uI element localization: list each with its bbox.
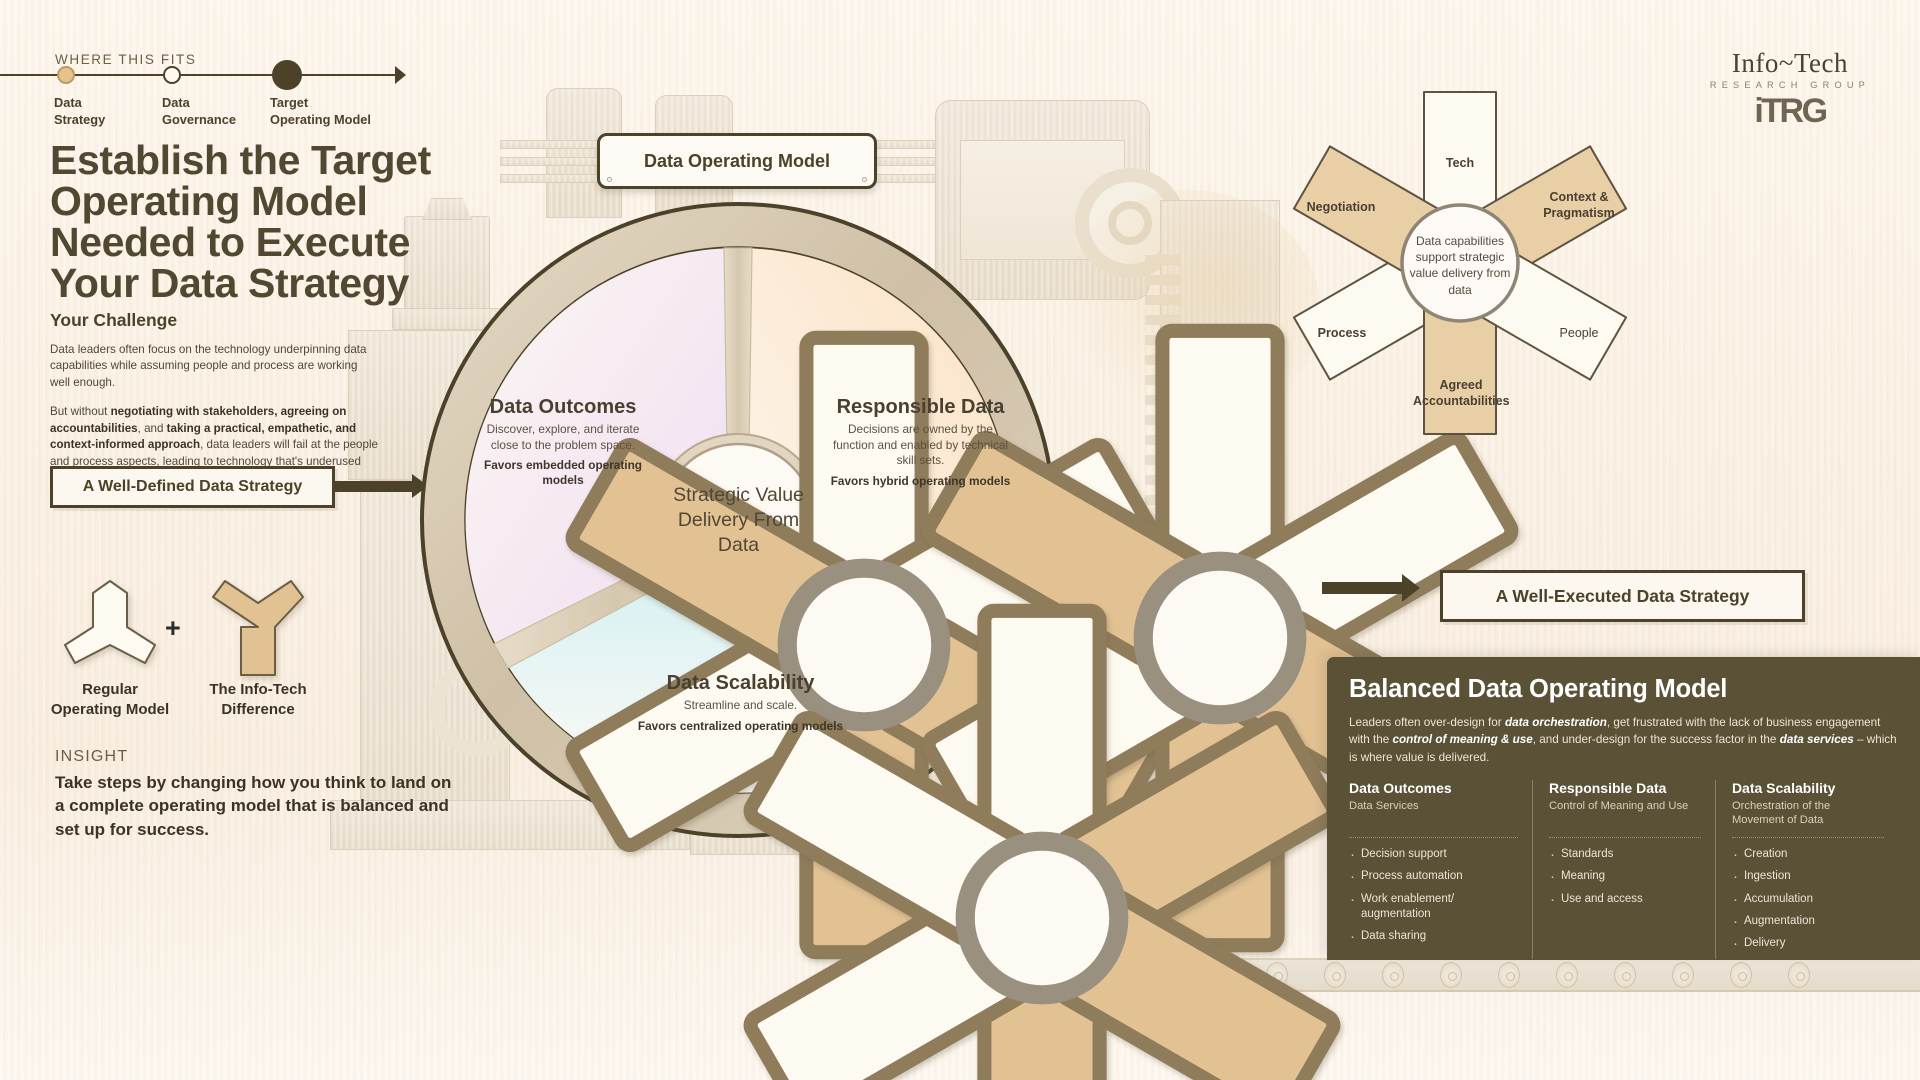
segment-desc: Discover, explore, and iterate close to … [473,422,653,453]
logo-itrg-mark: iTRG [1710,92,1870,131]
timeline-dot-data-strategy[interactable] [57,66,75,84]
gear-small-icon [1108,201,1152,245]
segment-title: Data Outcomes [473,396,653,419]
roller-icon [1556,962,1578,988]
intro-bold-2: control of meaning & use [1393,733,1533,746]
column-divider [1549,837,1701,838]
segment-desc: Decisions are owned by the function and … [828,422,1013,469]
segment-favors: Favors embedded operating models [473,458,653,489]
insight-section: INSIGHT Take steps by changing how you t… [55,748,455,841]
balanced-column-data-outcomes: Data Outcomes Data Services Decision sup… [1349,780,1532,959]
petal-label-process: Process [1297,326,1387,342]
regular-operating-model-caption: Regular Operating Model [45,680,175,719]
regular-operating-model-shape [55,575,165,685]
where-this-fits-timeline: WHERE THIS FITS Data Strategy Data Gover… [0,52,520,142]
roller-icon [1440,962,1462,988]
segment-label-data-outcomes: Data Outcomes Discover, explore, and ite… [473,396,653,489]
petal-label-people: People [1535,326,1623,342]
segment-favors: Favors hybrid operating models [828,474,1013,489]
intro-bold-3: data services [1780,733,1854,746]
logo-tagline: RESEARCH GROUP [1710,80,1870,90]
well-executed-data-strategy-box[interactable]: A Well-Executed Data Strategy [1440,570,1805,622]
timeline-label-line1: Target [270,94,371,111]
column-subheading: Orchestration of the Movement of Data [1732,799,1884,829]
timeline-label-data-governance: Data Governance [162,94,236,129]
roller-icon [1614,962,1636,988]
column-divider [1349,837,1518,838]
roller-icon [1498,962,1520,988]
info-tech-logo: Info~Tech RESEARCH GROUP iTRG [1710,48,1870,131]
data-operating-model-wheel: Strategic Value Delivery From Data [398,200,1078,840]
timeline-label-line1: Data [54,94,105,111]
arrow-out-of-wheel-icon [1322,582,1404,594]
list-item: Decision support [1349,847,1518,862]
petal-label-negotiation: Negotiation [1293,200,1389,216]
operating-model-comparison: + Regular Operating Model The Info-Tech … [55,575,315,775]
segment-favors: Favors centralized operating models [578,719,903,734]
p2-mid: , and [138,422,167,435]
timeline-label-line2: Operating Model [270,111,371,128]
petal-label-agreed-accountabilities: Agreed Accountabilities [1413,378,1509,409]
roller-icon [1672,962,1694,988]
plaque-label: Data Operating Model [644,151,830,172]
balanced-column-data-scalability: Data Scalability Orchestration of the Mo… [1715,780,1898,959]
timeline-label-line1: Data [162,94,236,111]
petal-hub-label: Data capabilities support strategic valu… [1403,233,1517,298]
list-item: Delivery [1732,936,1884,951]
plus-sign: + [165,613,181,644]
data-operating-model-plaque[interactable]: Data Operating Model [597,133,877,189]
column-list: Decision support Process automation Work… [1349,847,1518,944]
list-item: Data sharing [1349,929,1518,944]
list-item: Use and access [1549,892,1701,907]
timeline-arrow-icon [395,66,406,84]
list-item: Meaning [1549,869,1701,884]
list-item: Augmentation [1732,914,1884,929]
timeline-dot-target-operating-model[interactable] [272,60,302,90]
screw-icon [607,177,612,182]
list-item: Work enablement/ augmentation [1349,892,1518,922]
list-item: Ingestion [1732,869,1884,884]
segment-label-responsible-data: Responsible Data Decisions are owned by … [828,396,1013,489]
segment-label-data-scalability: Data Scalability Streamline and scale. F… [578,672,903,734]
column-heading: Data Outcomes [1349,780,1518,797]
roller-icon [1788,962,1810,988]
pinwheel-icon-data-scalability [702,598,1382,1080]
timeline-label-line2: Strategy [54,111,105,128]
roller-icon [1382,962,1404,988]
list-item: Process automation [1349,869,1518,884]
balanced-panel-title: Balanced Data Operating Model [1349,675,1898,704]
column-divider [1732,837,1884,838]
segment-desc: Streamline and scale. [578,698,903,714]
list-item: Standards [1549,847,1701,862]
list-item: Accumulation [1732,892,1884,907]
timeline-label-data-strategy: Data Strategy [54,94,105,129]
p2-pre: But without [50,405,111,418]
timeline-label-line2: Governance [162,111,236,128]
challenge-heading: Your Challenge [50,310,380,331]
petal-label-context-pragmatism: Context & Pragmatism [1533,190,1625,221]
segment-title: Data Scalability [578,672,903,695]
intro-bold-1: data orchestration [1505,716,1607,729]
challenge-paragraph-1: Data leaders often focus on the technolo… [50,342,380,391]
wheel-hub-label: Strategic Value Delivery From Data [656,483,821,557]
info-tech-difference-shape [203,575,313,685]
column-list: Creation Ingestion Accumulation Augmenta… [1732,847,1884,952]
column-subheading: Control of Meaning and Use [1549,799,1701,829]
logo-wordmark: Info~Tech [1710,48,1870,79]
info-tech-difference-caption: The Info-Tech Difference [193,680,323,719]
y-shape-tan-icon [203,575,313,685]
balanced-panel-intro: Leaders often over-design for data orche… [1349,714,1898,766]
timeline-heading: WHERE THIS FITS [55,52,197,67]
column-heading: Responsible Data [1549,780,1701,797]
column-heading: Data Scalability [1732,780,1884,797]
well-defined-data-strategy-box[interactable]: A Well-Defined Data Strategy [50,466,335,508]
insight-body: Take steps by changing how you think to … [55,771,455,841]
y-shape-light-icon [55,575,165,685]
insight-heading: INSIGHT [55,748,455,766]
timeline-label-target-operating-model: Target Operating Model [270,94,371,129]
column-list: Standards Meaning Use and access [1549,847,1701,907]
roller-icon [1730,962,1752,988]
petal-label-tech: Tech [1415,156,1505,172]
balanced-column-responsible-data: Responsible Data Control of Meaning and … [1532,780,1715,959]
intro-seg-3: , and under-design for the success facto… [1533,733,1780,746]
column-subheading: Data Services [1349,799,1518,829]
balanced-columns: Data Outcomes Data Services Decision sup… [1349,780,1898,959]
capabilities-petal-diagram: Tech Context & Pragmatism People Agreed … [1285,78,1635,448]
gear-large-icon [1075,168,1185,278]
segment-title: Responsible Data [828,396,1013,419]
list-item: Creation [1732,847,1884,862]
screw-icon [862,177,867,182]
intro-seg-1: Leaders often over-design for [1349,716,1505,729]
balanced-data-operating-model-panel: Balanced Data Operating Model Leaders of… [1327,657,1920,960]
timeline-dot-data-governance[interactable] [163,66,181,84]
